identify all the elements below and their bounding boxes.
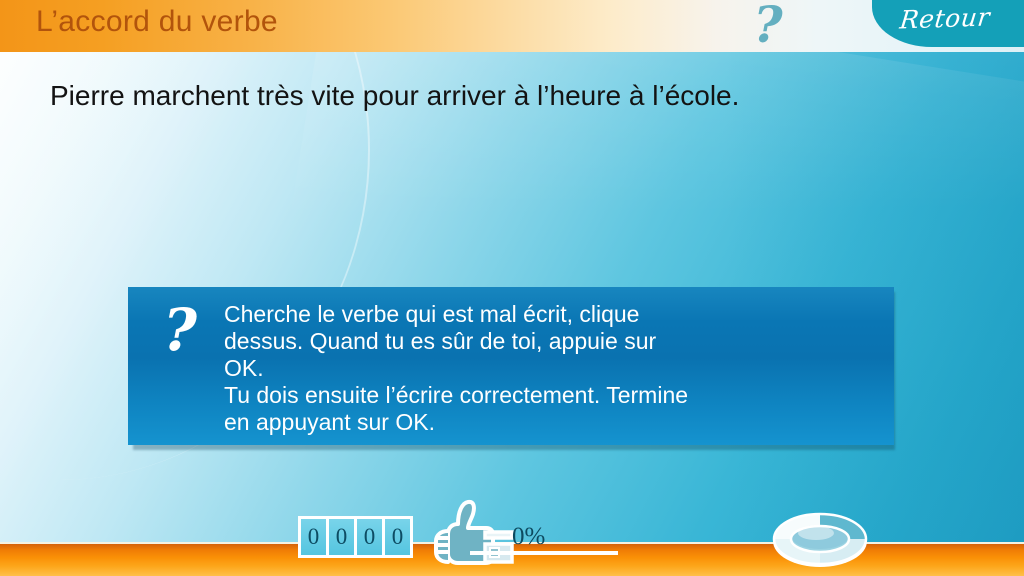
app-root: L’accord du verbe ? Retour Pierre marche… [0,0,1024,576]
header-bar: L’accord du verbe ? Retour [0,0,1024,52]
help-question-icon[interactable]: ? [745,0,791,52]
instruction-line: en appuyant sur OK. [224,409,882,436]
instruction-line: OK. [224,355,882,382]
instruction-panel: ? Cherche le verbe qui est mal écrit, cl… [128,287,894,445]
score-digit: 0 [329,519,354,555]
instruction-line: Cherche le verbe qui est mal écrit, cliq… [224,301,882,328]
page-title: L’accord du verbe [36,5,278,39]
score-digit: 0 [385,519,410,555]
instruction-text: Cherche le verbe qui est mal écrit, cliq… [224,301,882,436]
percent-label: 0% [512,523,545,551]
progress-bar [470,551,618,555]
exercise-sentence[interactable]: Pierre marchent très vite pour arriver à… [50,80,970,112]
thumbs-up-icon [428,498,516,570]
score-counter: 0 0 0 0 [298,516,413,558]
score-digit: 0 [301,519,326,555]
back-button-label: Retour [870,1,1020,35]
instruction-line: dessus. Quand tu es sûr de toi, appuie s… [224,328,882,355]
lifebuoy-icon[interactable] [768,508,872,570]
instruction-question-icon: ? [150,295,210,365]
back-button[interactable]: Retour [872,0,1024,47]
score-digit: 0 [357,519,382,555]
instruction-line: Tu dois ensuite l’écrire correctement. T… [224,382,882,409]
